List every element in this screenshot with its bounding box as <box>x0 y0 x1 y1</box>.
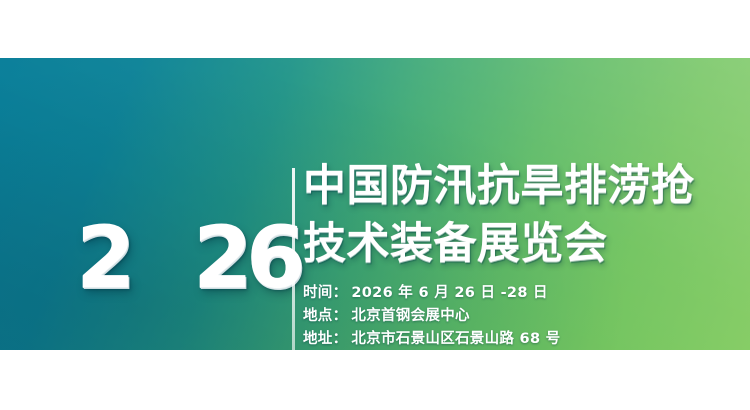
year-digit-3: 6 <box>246 216 304 300</box>
detail-value-time: 2026 年 6 月 26 日 -28 日 <box>351 282 547 305</box>
banner-text-column: 中国防汛抗旱排涝抢 技术装备展览会 时间： 2026 年 6 月 26 日 -2… <box>303 162 750 350</box>
event-details: 时间： 2026 年 6 月 26 日 -28 日 地点： 北京首钢会展中心 地… <box>303 282 750 350</box>
year-digit-1: 2 <box>76 216 134 300</box>
detail-row-time: 时间： 2026 年 6 月 26 日 -28 日 <box>303 282 750 305</box>
detail-label-address: 地址： <box>303 328 347 350</box>
detail-value-address: 北京市石景山区石景山路 68 号 <box>351 328 560 350</box>
detail-label-time: 时间： <box>303 282 347 305</box>
gradient-banner: 2 2 6 中国防汛抗旱排涝抢险技术装备展览会 <box>0 58 750 350</box>
banner-image: 2 2 6 中国防汛抗旱排涝抢险技术装备展览会 <box>0 0 750 410</box>
detail-value-venue: 北京首钢会展中心 <box>351 305 469 328</box>
vertical-divider <box>292 168 295 350</box>
headline-line-1: 中国防汛抗旱排涝抢 <box>303 162 750 211</box>
year-2026: 2 2 6 中国防汛抗旱排涝抢险技术装备展览会 <box>76 216 292 300</box>
year-digit-2: 2 <box>193 216 251 300</box>
detail-label-venue: 地点： <box>303 305 347 328</box>
detail-row-venue: 地点： 北京首钢会展中心 <box>303 305 750 328</box>
headline-line-2: 技术装备展览会 <box>303 220 750 269</box>
detail-row-address: 地址： 北京市石景山区石景山路 68 号 <box>303 328 750 350</box>
